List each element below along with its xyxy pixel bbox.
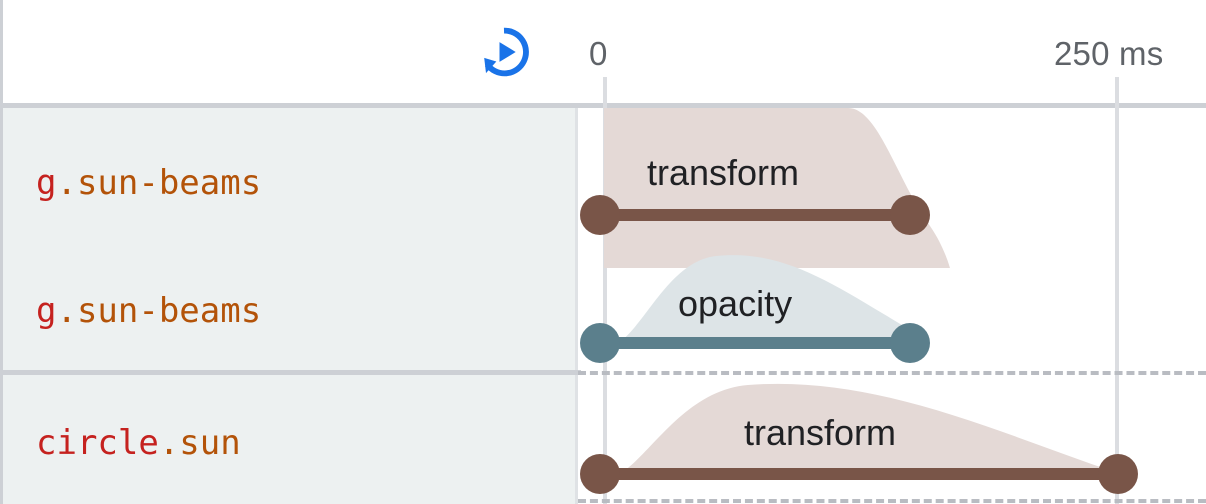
replay-icon[interactable]: [474, 22, 534, 82]
animation-keyframe-end-0[interactable]: [890, 195, 930, 235]
animation-track-2[interactable]: transform: [578, 371, 1206, 499]
track-selector-2-tag: circle: [36, 423, 159, 463]
header-left-edge: [0, 0, 3, 103]
replay-icon-glyph: [477, 25, 531, 79]
track-selector-1-rest: .sun-beams: [56, 291, 261, 331]
animation-keyframe-start-0[interactable]: [580, 195, 620, 235]
animation-track-1[interactable]: opacity: [578, 236, 1206, 364]
animation-property-label-2: transform: [744, 415, 896, 451]
track-selector-1[interactable]: g.sun-beams: [36, 294, 261, 328]
track-selector-1-tag: g: [36, 291, 56, 331]
animation-property-label-1: opacity: [678, 286, 792, 322]
track-selector-0-tag: g: [36, 163, 56, 203]
animations-timeline-panel: 0 250 ms g.sun-beams g.sun-beams circle.…: [0, 0, 1206, 504]
group-divider: [3, 370, 581, 375]
tick-label-start: 0: [589, 37, 608, 70]
track-selector-0-rest: .sun-beams: [56, 163, 261, 203]
animation-property-label-0: transform: [647, 155, 799, 191]
track-selector-0[interactable]: g.sun-beams: [36, 166, 261, 200]
track-selector-2[interactable]: circle.sun: [36, 426, 241, 460]
animation-bar-1[interactable]: [610, 337, 910, 349]
animation-track-0[interactable]: transform: [578, 108, 1206, 236]
animation-bar-0[interactable]: [610, 209, 910, 221]
animation-keyframe-start-1[interactable]: [580, 323, 620, 363]
animation-keyframe-end-2[interactable]: [1098, 454, 1138, 494]
track-selector-2-rest: .sun: [159, 423, 241, 463]
animation-bar-2[interactable]: [610, 468, 1118, 480]
animation-keyframe-end-1[interactable]: [890, 323, 930, 363]
group-divider-dashed-bottom: [578, 499, 1206, 503]
tick-label-end: 250 ms: [1054, 37, 1163, 70]
animation-keyframe-start-2[interactable]: [580, 454, 620, 494]
tracks-body: g.sun-beams g.sun-beams circle.sun trans…: [0, 108, 1206, 504]
